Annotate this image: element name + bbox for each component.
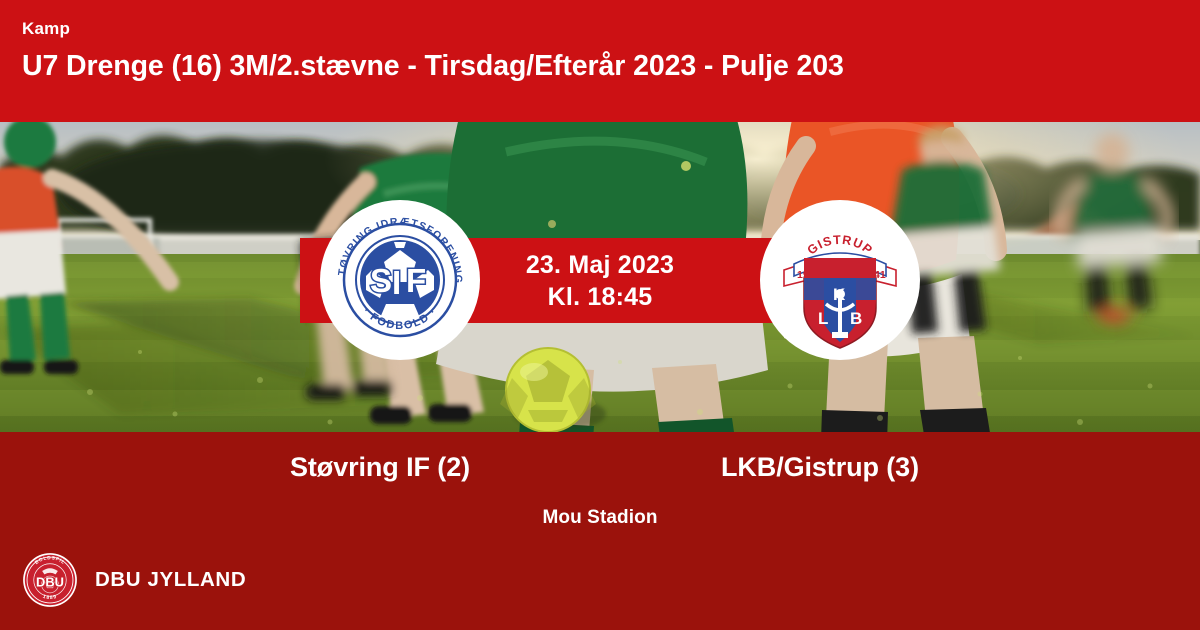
teams-row: Støvring IF (2) LKB/Gistrup (3) <box>0 450 1200 484</box>
svg-text:S: S <box>370 262 392 299</box>
home-team-logo: S I F STØVRING IDRÆTSFORENING · FODBOLD … <box>320 200 480 360</box>
dbu-logo-icon: DBU BOLDSPIL 1889 <box>22 552 78 608</box>
svg-text:F: F <box>406 262 426 299</box>
footer-band: Støvring IF (2) LKB/Gistrup (3) Mou Stad… <box>0 432 1200 630</box>
dbu-monogram: DBU <box>36 575 64 590</box>
away-logo-letter-l: L <box>818 309 828 328</box>
venue-name: Mou Stadion <box>0 507 1200 529</box>
page-title: U7 Drenge (16) 3M/2.stævne - Tirsdag/Eft… <box>22 48 1200 84</box>
kamp-eyebrow-label: Kamp <box>22 19 1200 39</box>
away-team-name: LKB/Gistrup (3) <box>600 450 1040 484</box>
away-logo-letter-k: K <box>833 285 846 304</box>
away-logo-letter-b: B <box>850 309 862 328</box>
away-team-logo: 19 41 GISTRUP <box>760 200 920 360</box>
dbu-brand-label: DBU JYLLAND <box>95 568 246 592</box>
home-team-name: Støvring IF (2) <box>160 450 600 484</box>
dbu-brand: DBU BOLDSPIL 1889 DBU JYLLAND <box>22 552 246 608</box>
match-time: Kl. 18:45 <box>548 281 653 313</box>
svg-text:I: I <box>392 264 401 301</box>
header-band: Kamp U7 Drenge (16) 3M/2.stævne - Tirsda… <box>0 0 1200 122</box>
match-poster: Kamp U7 Drenge (16) 3M/2.stævne - Tirsda… <box>0 0 1200 630</box>
match-date: 23. Maj 2023 <box>526 249 674 281</box>
